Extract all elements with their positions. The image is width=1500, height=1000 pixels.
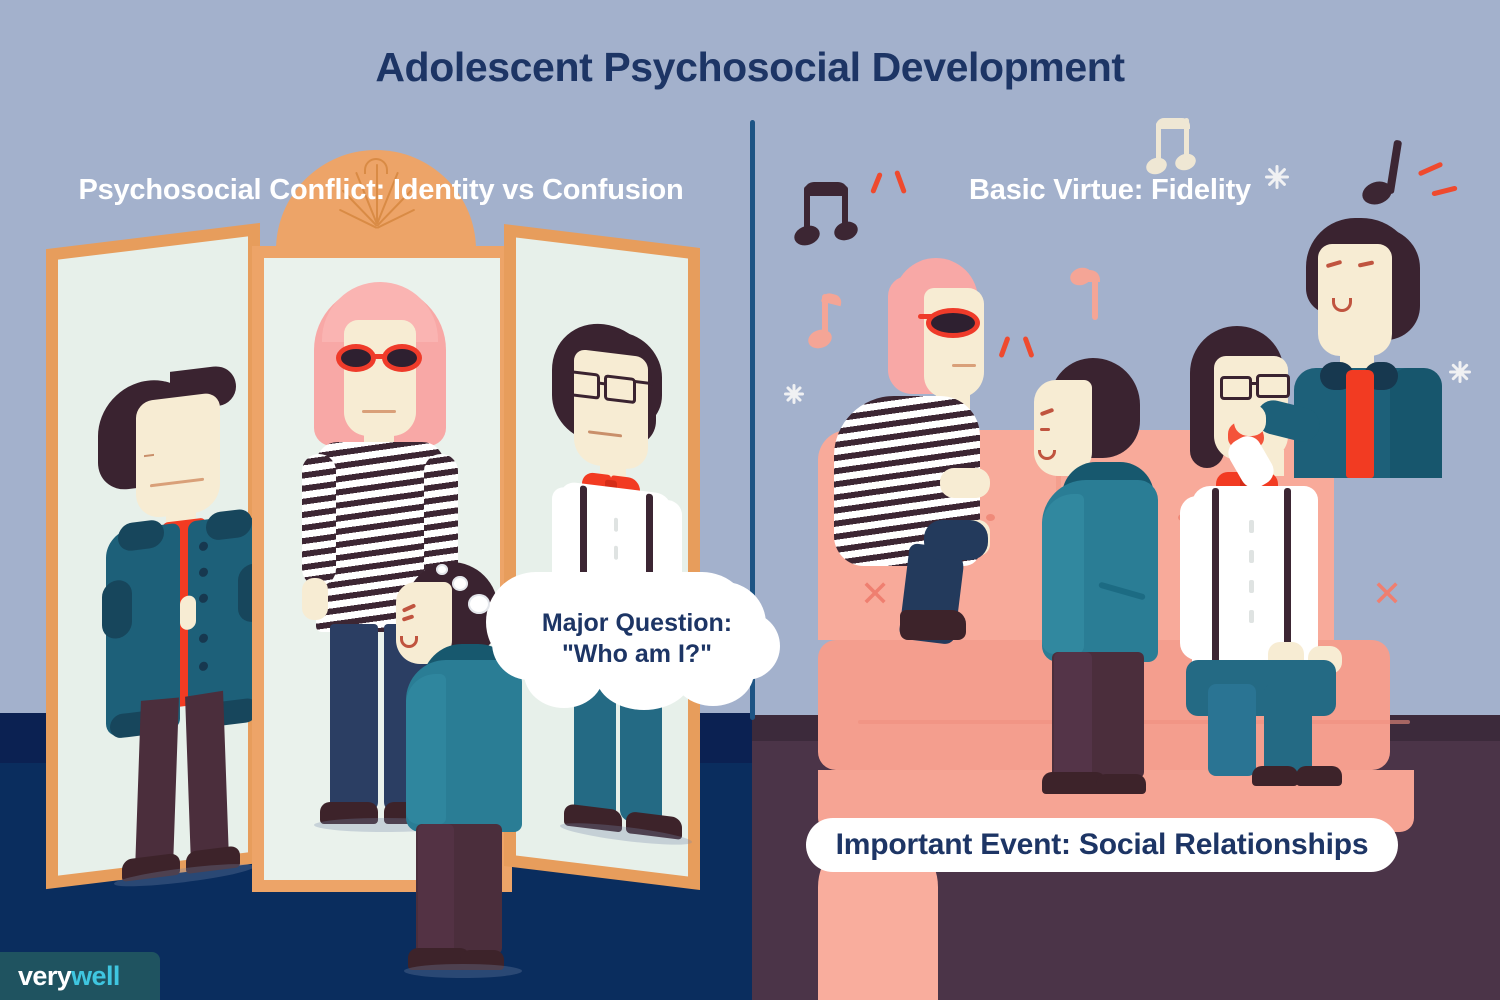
thought-line-2: "Who am I?" [504,639,770,670]
stitch-x-icon: ✕ [1372,576,1402,612]
music-note-icon [1150,116,1196,178]
infographic-canvas: Adolescent Psychosocial Development [0,0,1500,1000]
thought-line-1: Major Question: [504,608,770,639]
logo-text-very: very [18,961,71,992]
left-panel-label: Psychosocial Conflict: Identity vs Confu… [36,174,726,207]
figure-hoodie [1000,358,1160,790]
right-panel-label: Basic Virtue: Fidelity [880,174,1340,207]
mirror-glass-left [58,236,248,875]
figure-tie [1270,218,1460,468]
mirror-panel-left [46,223,260,889]
thought-bubble-text: Major Question: "Who am I?" [504,608,770,669]
music-note-icon [1356,138,1412,214]
important-event-banner: Important Event: Social Relationships [806,818,1398,872]
verywell-logo[interactable]: verywell [0,952,160,1000]
necktie-icon [1346,370,1374,478]
sunglasses-icon [926,308,980,338]
music-note-icon [798,182,864,258]
logo-text-well: well [71,961,120,992]
music-note-icon [1068,270,1110,336]
page-title: Adolescent Psychosocial Development [0,44,1500,91]
banner-text: Important Event: Social Relationships [836,828,1369,862]
thought-bubble: Major Question: "Who am I?" [486,572,786,712]
figure-pink-hair [806,258,996,648]
reflection-figure-1 [58,236,248,875]
eyeglasses-icon [1220,376,1252,400]
